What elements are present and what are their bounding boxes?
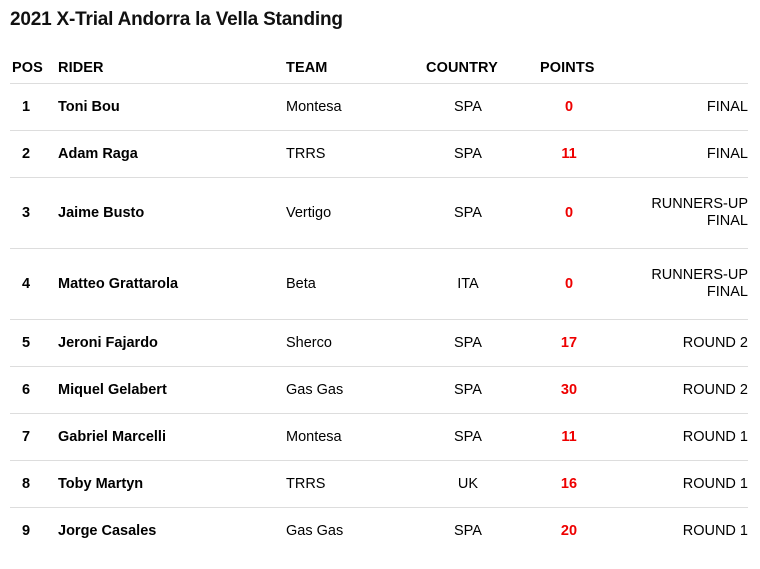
standings-page: 2021 X-Trial Andorra la Vella Standing P… bbox=[0, 0, 760, 569]
cell-position: 4 bbox=[10, 249, 50, 320]
cell-points: 11 bbox=[530, 131, 622, 178]
cell-status: ROUND 1 bbox=[622, 461, 748, 508]
table-row[interactable]: 9Jorge CasalesGas GasSPA20ROUND 1 bbox=[10, 508, 748, 555]
column-header-status bbox=[622, 53, 748, 84]
table-row[interactable]: 3Jaime BustoVertigoSPA0RUNNERS-UP FINAL bbox=[10, 178, 748, 249]
cell-team: Gas Gas bbox=[275, 367, 420, 414]
standings-table: POS RIDER TEAM COUNTRY POINTS 1Toni BouM… bbox=[10, 53, 748, 554]
cell-position: 8 bbox=[10, 461, 50, 508]
cell-status: FINAL bbox=[622, 131, 748, 178]
cell-country: SPA bbox=[420, 414, 530, 461]
cell-points: 11 bbox=[530, 414, 622, 461]
cell-team: Vertigo bbox=[275, 178, 420, 249]
cell-rider: Miquel Gelabert bbox=[50, 367, 275, 414]
cell-team: Montesa bbox=[275, 414, 420, 461]
cell-rider: Jeroni Fajardo bbox=[50, 320, 275, 367]
cell-country: SPA bbox=[420, 320, 530, 367]
table-row[interactable]: 1Toni BouMontesaSPA0FINAL bbox=[10, 84, 748, 131]
cell-status: RUNNERS-UP FINAL bbox=[622, 178, 748, 249]
cell-team: Beta bbox=[275, 249, 420, 320]
cell-points: 20 bbox=[530, 508, 622, 555]
table-row[interactable]: 2Adam RagaTRRSSPA11FINAL bbox=[10, 131, 748, 178]
column-header-points: POINTS bbox=[530, 53, 622, 84]
cell-status: ROUND 2 bbox=[622, 320, 748, 367]
cell-rider: Toni Bou bbox=[50, 84, 275, 131]
cell-team: TRRS bbox=[275, 461, 420, 508]
cell-position: 3 bbox=[10, 178, 50, 249]
cell-rider: Gabriel Marcelli bbox=[50, 414, 275, 461]
cell-country: SPA bbox=[420, 178, 530, 249]
cell-country: UK bbox=[420, 461, 530, 508]
table-row[interactable]: 5Jeroni FajardoShercoSPA17ROUND 2 bbox=[10, 320, 748, 367]
cell-status: ROUND 2 bbox=[622, 367, 748, 414]
cell-position: 6 bbox=[10, 367, 50, 414]
page-title: 2021 X-Trial Andorra la Vella Standing bbox=[0, 0, 760, 32]
cell-status: RUNNERS-UP FINAL bbox=[622, 249, 748, 320]
column-header-pos: POS bbox=[10, 53, 50, 84]
cell-points: 0 bbox=[530, 84, 622, 131]
column-header-team: TEAM bbox=[275, 53, 420, 84]
cell-status: FINAL bbox=[622, 84, 748, 131]
cell-rider: Jorge Casales bbox=[50, 508, 275, 555]
table-row[interactable]: 8Toby MartynTRRSUK16ROUND 1 bbox=[10, 461, 748, 508]
cell-position: 5 bbox=[10, 320, 50, 367]
table-row[interactable]: 6Miquel GelabertGas GasSPA30ROUND 2 bbox=[10, 367, 748, 414]
table-header: POS RIDER TEAM COUNTRY POINTS bbox=[10, 53, 748, 84]
cell-country: ITA bbox=[420, 249, 530, 320]
cell-points: 30 bbox=[530, 367, 622, 414]
cell-points: 0 bbox=[530, 178, 622, 249]
cell-points: 0 bbox=[530, 249, 622, 320]
cell-country: SPA bbox=[420, 367, 530, 414]
cell-rider: Jaime Busto bbox=[50, 178, 275, 249]
cell-country: SPA bbox=[420, 131, 530, 178]
table-body: 1Toni BouMontesaSPA0FINAL2Adam RagaTRRSS… bbox=[10, 84, 748, 555]
cell-status: ROUND 1 bbox=[622, 508, 748, 555]
table-header-row: POS RIDER TEAM COUNTRY POINTS bbox=[10, 53, 748, 84]
column-header-country: COUNTRY bbox=[420, 53, 530, 84]
cell-points: 16 bbox=[530, 461, 622, 508]
cell-status: ROUND 1 bbox=[622, 414, 748, 461]
cell-rider: Toby Martyn bbox=[50, 461, 275, 508]
cell-team: TRRS bbox=[275, 131, 420, 178]
column-header-rider: RIDER bbox=[50, 53, 275, 84]
cell-country: SPA bbox=[420, 508, 530, 555]
cell-position: 2 bbox=[10, 131, 50, 178]
cell-team: Montesa bbox=[275, 84, 420, 131]
cell-position: 7 bbox=[10, 414, 50, 461]
cell-team: Sherco bbox=[275, 320, 420, 367]
cell-position: 1 bbox=[10, 84, 50, 131]
table-row[interactable]: 4Matteo GrattarolaBetaITA0RUNNERS-UP FIN… bbox=[10, 249, 748, 320]
cell-rider: Matteo Grattarola bbox=[50, 249, 275, 320]
cell-position: 9 bbox=[10, 508, 50, 555]
cell-rider: Adam Raga bbox=[50, 131, 275, 178]
cell-country: SPA bbox=[420, 84, 530, 131]
cell-team: Gas Gas bbox=[275, 508, 420, 555]
cell-points: 17 bbox=[530, 320, 622, 367]
table-row[interactable]: 7Gabriel MarcelliMontesaSPA11ROUND 1 bbox=[10, 414, 748, 461]
